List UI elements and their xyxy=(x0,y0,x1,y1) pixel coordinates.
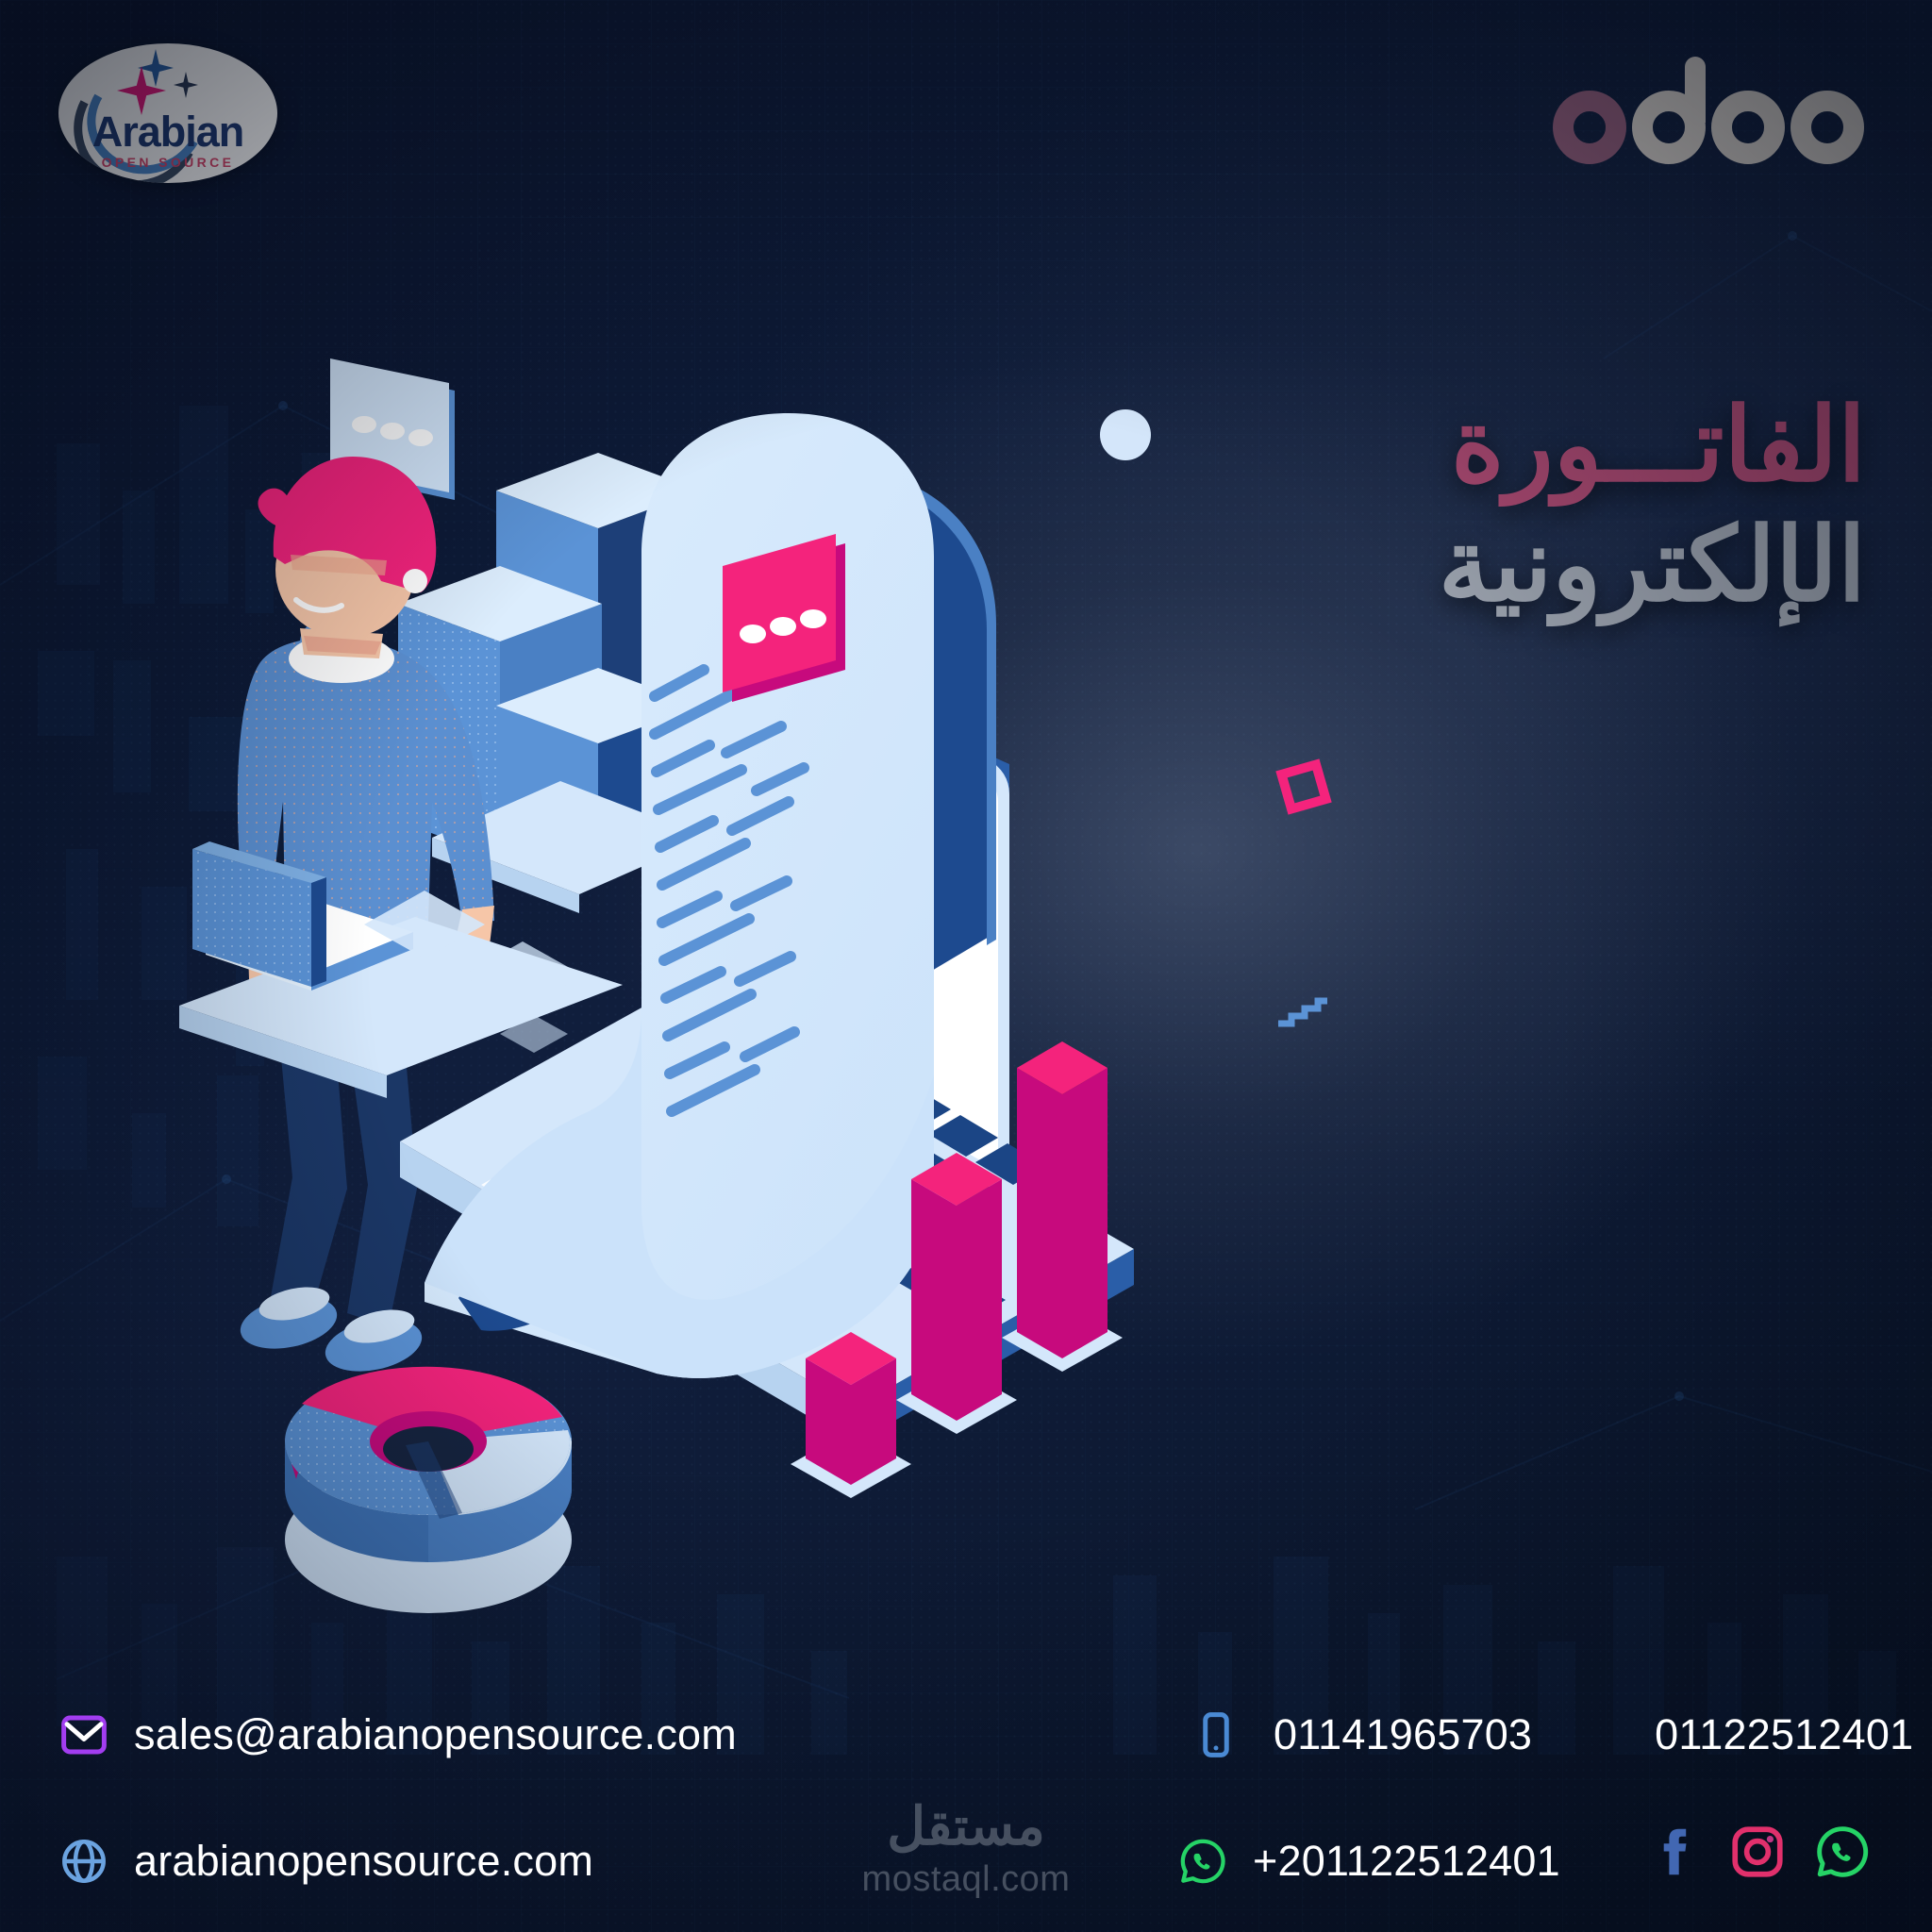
logo-wordmark: Arabian xyxy=(58,108,277,157)
pie-chart-3d xyxy=(285,1367,572,1613)
footer-whatsapp-row[interactable]: +201122512401 xyxy=(1177,1836,1560,1887)
globe-icon xyxy=(58,1836,109,1887)
social-links xyxy=(1643,1823,1872,1881)
footer-website-text: arabianopensource.com xyxy=(134,1837,593,1886)
footer-website-row[interactable]: arabianopensource.com xyxy=(58,1836,593,1887)
mobile-icon xyxy=(1191,1709,1241,1760)
arabian-open-source-logo[interactable]: Arabian OPEN SOURCE xyxy=(58,43,277,183)
whatsapp-icon xyxy=(1177,1836,1228,1887)
mostaql-watermark-latin: mostaql.com xyxy=(862,1859,1071,1900)
footer-email-text: sales@arabianopensource.com xyxy=(134,1710,737,1759)
instagram-icon[interactable] xyxy=(1728,1823,1787,1881)
footer-whatsapp-text: +201122512401 xyxy=(1253,1837,1560,1886)
envelope-icon xyxy=(58,1709,109,1760)
odoo-logo[interactable] xyxy=(1553,91,1864,164)
odoo-letter-o-2-icon xyxy=(1711,91,1785,164)
mostaql-watermark-arabic: مستقل xyxy=(862,1795,1071,1857)
footer-phone-primary: 01141965703 xyxy=(1274,1710,1532,1759)
footer-phone-secondary: 01122512401 xyxy=(1655,1710,1913,1759)
logo-tagline: OPEN SOURCE xyxy=(58,155,277,170)
poster-canvas: Arabian OPEN SOURCE الفاتـــورة الإلكترو… xyxy=(0,0,1932,1932)
footer: sales@arabianopensource.com 01141965703 … xyxy=(0,1621,1932,1932)
mostaql-watermark: مستقل mostaql.com xyxy=(862,1795,1071,1900)
whatsapp-social-icon[interactable] xyxy=(1813,1823,1872,1881)
odoo-letter-d-icon xyxy=(1632,91,1706,164)
footer-email-row[interactable]: sales@arabianopensource.com xyxy=(58,1709,737,1760)
facebook-icon[interactable] xyxy=(1643,1823,1702,1881)
odoo-letter-o-3-icon xyxy=(1790,91,1864,164)
main-illustration xyxy=(179,358,1340,1613)
footer-phone-row[interactable]: 01141965703 01122512401 xyxy=(1191,1709,1913,1760)
odoo-letter-o-1-icon xyxy=(1553,91,1626,164)
